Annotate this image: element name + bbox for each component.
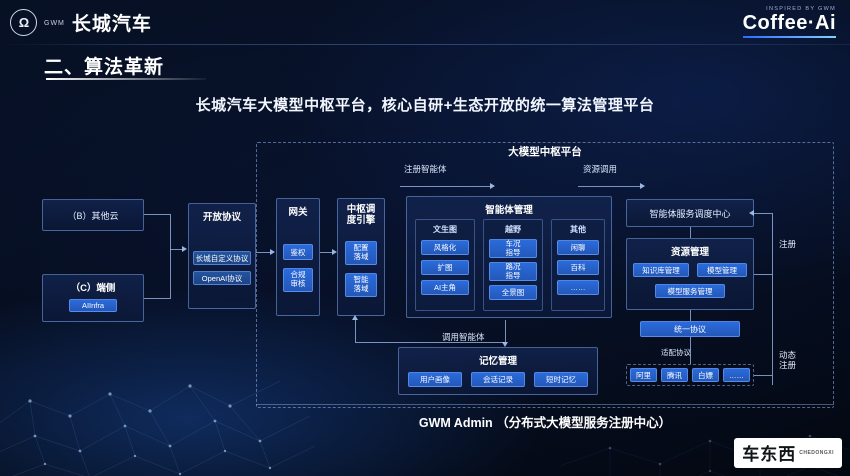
chip-more-agents-label: …… — [571, 283, 586, 292]
chip-chitchat-label: 闲聊 — [571, 242, 586, 253]
node-other-cloud[interactable]: （B）其他云 — [42, 199, 144, 231]
chip-panorama[interactable]: 全景图 — [489, 285, 537, 300]
chip-smart-domain-label: 智能 落域 — [354, 276, 369, 293]
panel-open-protocol-title: 开放协议 — [203, 204, 241, 223]
chip-short-term-memory[interactable]: 短时记忆 — [534, 372, 588, 387]
chip-knowledge-base-management-label: 知识库管理 — [642, 265, 680, 276]
chip-outpaint[interactable]: 扩图 — [421, 260, 469, 275]
connector-resource-call — [578, 186, 640, 187]
label-dynamic-register-text: 动态 注册 — [779, 350, 796, 370]
panel-scheduler-engine[interactable]: 中枢调 度引擎 配置 落域 智能 落域 — [337, 198, 385, 316]
arrow-register-agent — [490, 183, 495, 189]
label-dynamic-register: 动态 注册 — [779, 350, 796, 370]
connector-right-spine — [690, 310, 691, 321]
chip-unified-protocol-label: 统一协议 — [674, 324, 706, 335]
chip-session-log-label: 会话记录 — [483, 374, 513, 385]
chip-model-service-management-label: 模型服务管理 — [668, 286, 713, 297]
headline-text: 长城汽车大模型中枢平台，核心自研+生态开放的统一算法管理平台 — [0, 94, 850, 115]
panel-resource-management[interactable]: 资源管理 知识库管理 模型管理 模型服务管理 — [626, 238, 754, 310]
group-text-to-image[interactable]: 文生图 风格化 扩图 AI主角 — [415, 219, 475, 311]
arrow-call-agent-up — [352, 315, 358, 320]
connector-outer-right-bottom — [754, 375, 772, 376]
connector-register-agent — [400, 186, 490, 187]
connector-dispatch-to-resource — [690, 227, 691, 238]
gwm-circle-logo-icon: Ω — [10, 9, 37, 36]
chip-vehicle-status-guide[interactable]: 车况 指导 — [489, 239, 537, 258]
chip-adapter-freeride[interactable]: 白嫖 — [692, 368, 719, 382]
header-divider — [0, 44, 850, 45]
group-offroad-title: 越野 — [505, 224, 521, 235]
chip-gwm-protocol-label: 长城自定义协议 — [196, 253, 249, 264]
label-resource-call: 资源调用 — [583, 163, 617, 175]
chip-adapter-tencent[interactable]: 腾讯 — [661, 368, 688, 382]
chip-session-log[interactable]: 会话记录 — [471, 372, 525, 387]
chip-adapter-freeride-label: 白嫖 — [698, 370, 713, 381]
chip-adapter-more[interactable]: …… — [723, 368, 750, 382]
panel-scheduler-title: 中枢调 度引擎 — [347, 199, 376, 227]
connector-gateway-to-scheduler — [320, 252, 332, 253]
coffee-underline — [743, 36, 836, 38]
chip-model-service-management[interactable]: 模型服务管理 — [655, 284, 725, 298]
label-register: 注册 — [779, 238, 796, 250]
panel-gateway[interactable]: 网关 鉴权 合规 审核 — [276, 198, 320, 316]
chip-adapter-alibaba-label: 阿里 — [636, 370, 651, 381]
connector-cloud-to-protocol — [144, 214, 170, 215]
connector-device-to-protocol — [144, 298, 170, 299]
chip-openai-protocol[interactable]: OpenAI协议 — [193, 271, 251, 285]
panel-memory-management[interactable]: 记忆管理 用户画像 会话记录 短时记忆 — [398, 347, 598, 395]
panel-agent-dispatch-center[interactable]: 智能体服务调度中心 — [626, 199, 754, 227]
watermark-subtext: CHEDONGXI — [799, 450, 834, 456]
connector-call-agent-v-right — [505, 320, 506, 342]
group-others-title: 其他 — [570, 224, 586, 235]
chip-chitchat[interactable]: 闲聊 — [557, 240, 599, 255]
chip-stylize-label: 风格化 — [434, 242, 457, 253]
connector-outer-right-mid — [754, 274, 772, 275]
group-others[interactable]: 其他 闲聊 百科 …… — [551, 219, 605, 311]
chip-model-management-label: 模型管理 — [707, 265, 737, 276]
connector-protocol-to-gateway — [256, 252, 270, 253]
connector-outer-right-v — [772, 213, 773, 385]
chip-gwm-protocol[interactable]: 长城自定义协议 — [193, 251, 251, 265]
slide-canvas: Ω GWM 长城汽车 INSPIRED BY GWM Coffee·Ai 二、算… — [0, 0, 850, 476]
brand-name-cn: 长城汽车 — [72, 9, 152, 36]
chip-panorama-label: 全景图 — [502, 287, 525, 298]
connector-call-agent-v-left — [355, 320, 356, 342]
chip-user-profile-label: 用户画像 — [420, 374, 450, 385]
group-offroad[interactable]: 越野 车况 指导 路况 指导 全景图 — [483, 219, 543, 311]
panel-resource-management-title: 资源管理 — [671, 239, 709, 258]
connector-call-agent-h — [355, 342, 505, 343]
chip-adapter-tencent-label: 腾讯 — [667, 370, 682, 381]
connector-cloud-vert — [170, 214, 171, 249]
chip-road-condition-guide-label: 路况 指导 — [506, 263, 521, 280]
chip-encyclopedia[interactable]: 百科 — [557, 260, 599, 275]
chip-auth[interactable]: 鉴权 — [283, 244, 313, 260]
connector-protocol-in — [170, 249, 182, 250]
chip-aiinfra[interactable]: AIInfra — [69, 299, 117, 312]
chip-short-term-memory-label: 短时记忆 — [546, 374, 576, 385]
arrow-protocol-in — [182, 246, 187, 252]
label-adapter-protocol: 适配协议 — [661, 347, 691, 358]
chip-auth-label: 鉴权 — [291, 247, 306, 258]
chip-aiinfra-label: AIInfra — [82, 301, 104, 310]
arrow-call-agent-down — [502, 342, 508, 347]
arrow-gateway-in — [270, 249, 275, 255]
arrow-outer-right-top — [749, 210, 754, 216]
chip-knowledge-base-management[interactable]: 知识库管理 — [633, 263, 689, 277]
panel-agent-dispatch-center-label: 智能体服务调度中心 — [649, 207, 730, 220]
chip-smart-domain[interactable]: 智能 落域 — [345, 273, 377, 297]
chip-user-profile[interactable]: 用户画像 — [408, 372, 462, 387]
connector-right-spine-2 — [690, 337, 691, 364]
chip-unified-protocol[interactable]: 统一协议 — [640, 321, 740, 337]
panel-agent-management-title: 智能体管理 — [485, 197, 533, 216]
connector-outer-right-top — [754, 213, 772, 214]
chip-adapter-alibaba[interactable]: 阿里 — [630, 368, 657, 382]
chip-ai-protagonist-label: AI主角 — [434, 282, 456, 293]
group-text-to-image-title: 文生图 — [433, 224, 457, 235]
gwm-mark-label: GWM — [44, 20, 65, 27]
coffee-brand-label: Coffee·Ai — [743, 12, 836, 35]
title-underline — [46, 78, 206, 80]
chip-model-management[interactable]: 模型管理 — [697, 263, 747, 277]
chip-more-agents[interactable]: …… — [557, 280, 599, 295]
chip-openai-protocol-label: OpenAI协议 — [202, 273, 242, 284]
chip-encyclopedia-label: 百科 — [571, 262, 586, 273]
chip-ai-protagonist[interactable]: AI主角 — [421, 280, 469, 295]
node-device-side-label: （C）端侧 — [71, 275, 116, 294]
chip-adapter-more-label: …… — [729, 371, 744, 380]
gwm-admin-label: GWM Admin （分布式大模型服务注册中心） — [256, 412, 834, 431]
panel-gateway-title: 网关 — [288, 199, 307, 218]
chip-compliance-review-label: 合规 审核 — [291, 271, 306, 288]
watermark-chedongxi: 车东西 CHEDONGXI — [734, 438, 842, 468]
node-other-cloud-label: （B）其他云 — [67, 209, 118, 222]
platform-title: 大模型中枢平台 — [256, 144, 834, 159]
chip-outpaint-label: 扩图 — [438, 262, 453, 273]
coffee-ai-logo: INSPIRED BY GWM Coffee·Ai — [743, 6, 836, 38]
chip-config-domain[interactable]: 配置 落域 — [345, 241, 377, 265]
watermark-text: 车东西 — [742, 440, 796, 465]
chip-compliance-review[interactable]: 合规 审核 — [283, 268, 313, 292]
panel-open-protocol[interactable]: 开放协议 长城自定义协议 OpenAI协议 — [188, 203, 256, 309]
label-register-agent: 注册智能体 — [404, 163, 447, 175]
panel-memory-management-title: 记忆管理 — [479, 348, 517, 367]
chip-road-condition-guide[interactable]: 路况 指导 — [489, 262, 537, 281]
panel-agent-management[interactable]: 智能体管理 文生图 风格化 扩图 AI主角 越野 车况 指导 路况 指导 — [406, 196, 612, 318]
chip-stylize[interactable]: 风格化 — [421, 240, 469, 255]
node-device-side[interactable]: （C）端侧 AIInfra — [42, 274, 144, 322]
chip-config-domain-label: 配置 落域 — [354, 244, 369, 261]
connector-device-vert — [170, 249, 171, 299]
arrow-resource-call — [640, 183, 645, 189]
page-title: 二、算法革新 — [44, 52, 164, 79]
frame-bottom-divider — [256, 404, 834, 405]
chip-vehicle-status-guide-label: 车况 指导 — [506, 240, 521, 257]
gwm-logo: Ω GWM 长城汽车 — [10, 9, 152, 36]
